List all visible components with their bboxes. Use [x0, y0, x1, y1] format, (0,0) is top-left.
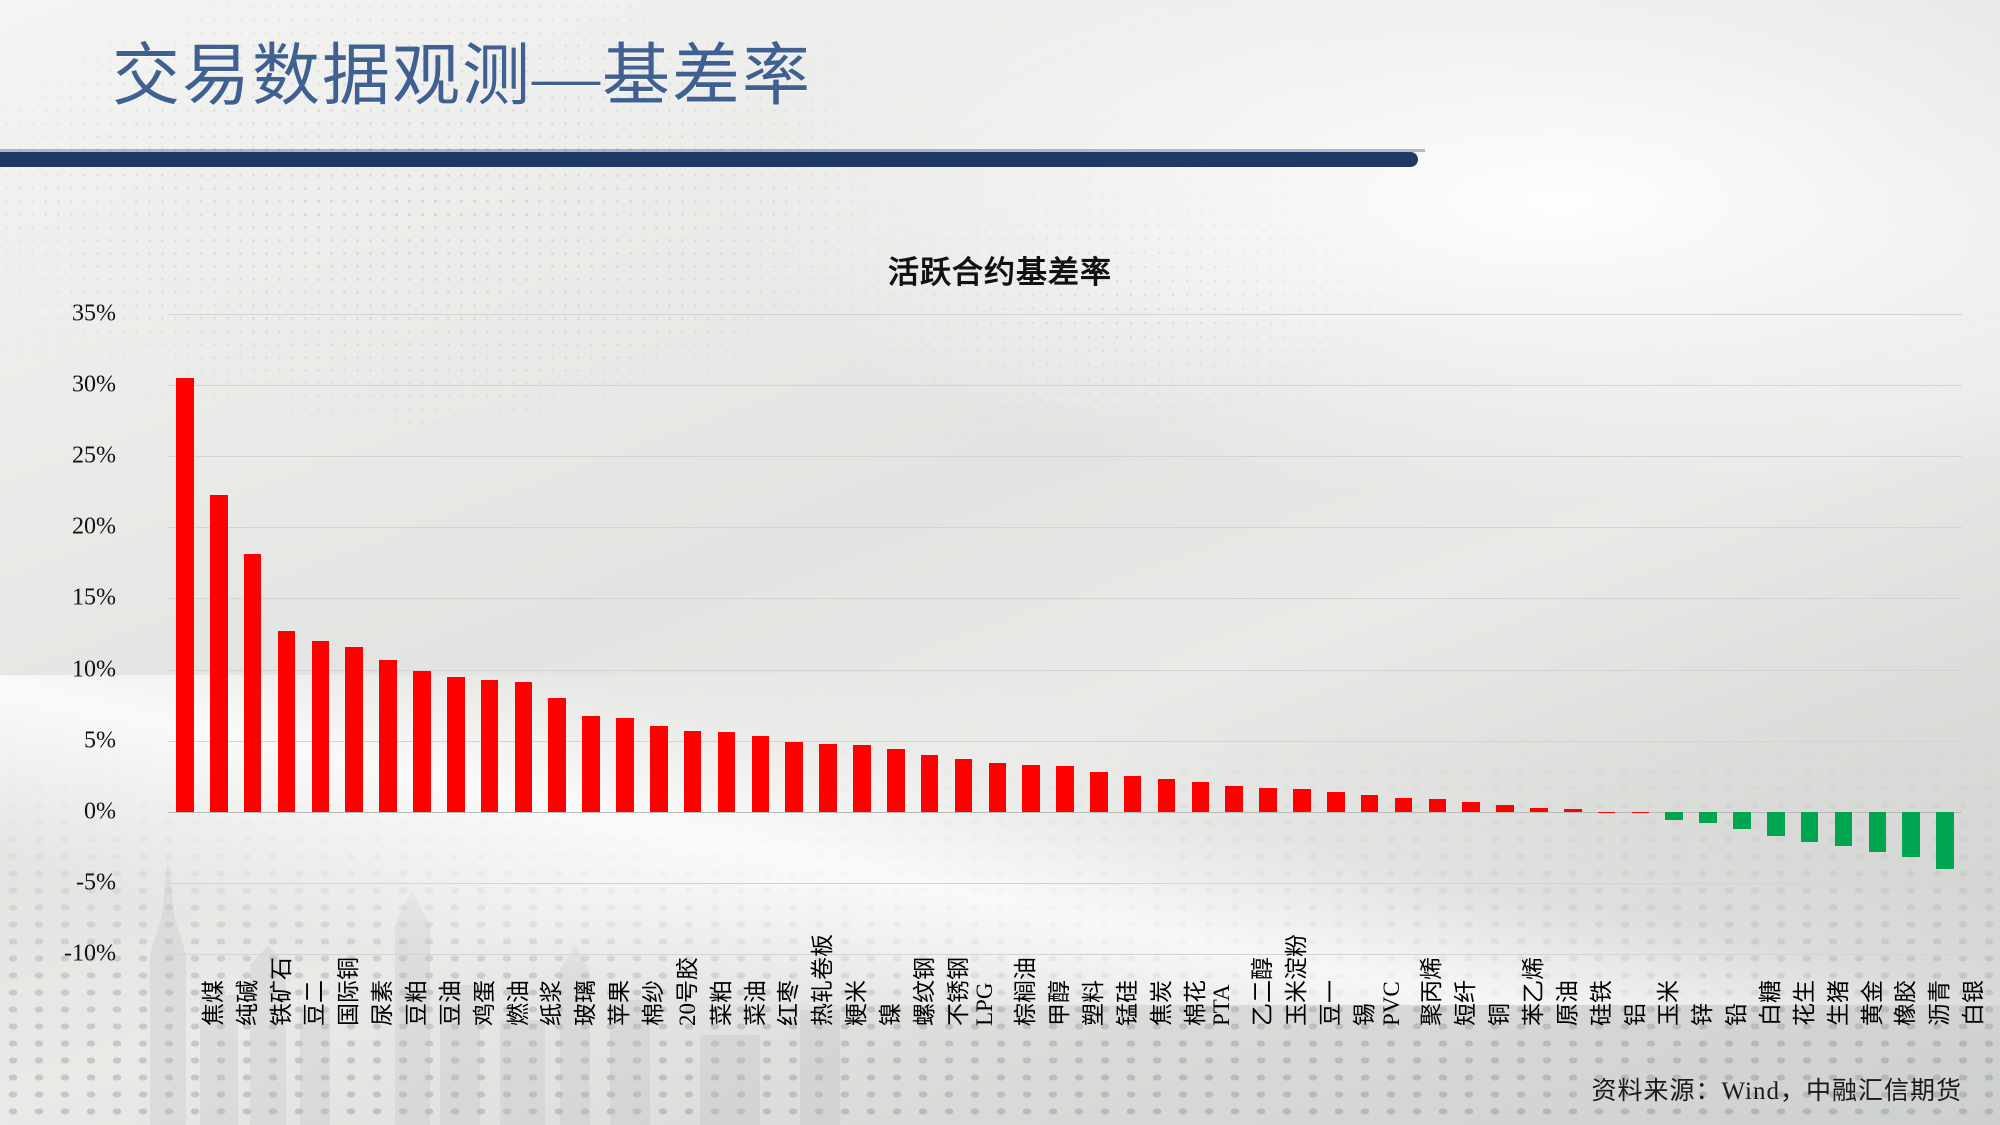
chart-bar — [1632, 812, 1650, 813]
x-axis-tick-label: 黄金 — [1853, 980, 1887, 1026]
x-axis-tick-label: 锌 — [1683, 1003, 1717, 1026]
chart-title: 活跃合约基差率 — [0, 247, 2000, 292]
chart-bar — [413, 671, 431, 812]
x-axis-tick-label: 棉纱 — [634, 980, 668, 1026]
x-axis-tick-label: 豆二 — [295, 980, 329, 1026]
chart-bar — [1767, 812, 1785, 836]
x-axis-tick-label: 20号胶 — [668, 957, 702, 1026]
x-axis-tick-label: 铁矿石 — [262, 957, 296, 1026]
chart-bar — [345, 647, 363, 812]
x-axis-tick-label: 铅 — [1717, 1003, 1751, 1026]
x-axis-tick-label: 玻璃 — [566, 980, 600, 1026]
chart-bar — [1733, 812, 1751, 829]
x-axis-tick-label: 锰硅 — [1108, 980, 1142, 1026]
x-axis-tick-label: 玉米淀粉 — [1277, 934, 1311, 1026]
gridline — [168, 883, 1962, 884]
x-axis-tick-label: 苹果 — [600, 980, 634, 1026]
chart-bar — [955, 759, 973, 812]
chart-bar — [548, 698, 566, 812]
chart-bar — [1496, 805, 1514, 812]
y-axis-tick-label: -5% — [0, 869, 116, 896]
chart-bar — [1835, 812, 1853, 846]
x-axis-tick-label: 豆油 — [431, 980, 465, 1026]
chart-bar — [278, 631, 296, 812]
x-axis-tick-label: 纸浆 — [532, 980, 566, 1026]
chart-bar — [752, 736, 770, 811]
chart-bar — [1293, 789, 1311, 812]
x-axis-tick-label: 菜油 — [736, 980, 770, 1026]
x-axis-tick-label: 镍 — [871, 1003, 905, 1026]
x-axis-tick-label: 原油 — [1548, 980, 1582, 1026]
x-axis-tick-label: 短纤 — [1446, 980, 1480, 1026]
chart-bar — [1429, 799, 1447, 812]
x-axis-tick-label: LPG — [972, 983, 998, 1026]
x-axis-tick-label: 硅铁 — [1582, 980, 1616, 1026]
x-axis-tick-label: 生猪 — [1819, 980, 1853, 1026]
chart-bar — [1124, 776, 1142, 812]
chart-bar — [312, 641, 330, 812]
x-axis-tick-label: 豆粕 — [397, 980, 431, 1026]
chart-bar — [1564, 809, 1582, 812]
x-axis-tick-label: 铝 — [1616, 1003, 1650, 1026]
gridline — [168, 954, 1962, 955]
x-axis-tick-label: 豆一 — [1311, 980, 1345, 1026]
x-axis-tick-label: PVC — [1379, 981, 1405, 1026]
x-axis-tick-label: 国际铜 — [329, 957, 363, 1026]
y-axis-tick-label: 15% — [0, 585, 116, 612]
chart-bar — [1699, 812, 1717, 823]
x-axis-tick-label: 橡胶 — [1886, 980, 1920, 1026]
x-axis-tick-label: 鸡蛋 — [465, 980, 499, 1026]
y-axis-tick-label: 0% — [0, 798, 116, 825]
chart-bar — [1225, 786, 1243, 812]
chart-bar — [1259, 788, 1277, 812]
x-axis-tick-label: 沥青 — [1920, 980, 1954, 1026]
chart-bar — [1158, 779, 1176, 812]
chart-bar — [447, 677, 465, 812]
x-axis-tick-label: 菜粕 — [702, 980, 736, 1026]
x-axis-tick-label: 燃油 — [499, 980, 533, 1026]
chart-bar — [176, 378, 194, 812]
gridline — [168, 598, 1962, 599]
chart-bar — [684, 731, 702, 812]
chart-bar — [650, 726, 668, 811]
axis-zero-line — [168, 812, 1962, 813]
x-axis-tick-label: 铜 — [1480, 1003, 1514, 1026]
halftone-texture — [0, 695, 2000, 1125]
y-axis-tick-label: 35% — [0, 301, 116, 328]
chart-gridlines: 35%30%25%20%15%10%5%0%-5%-10% — [168, 314, 1962, 954]
x-axis-tick-label: 粳米 — [837, 980, 871, 1026]
y-axis-tick-label: 30% — [0, 372, 116, 399]
chart-bar — [1530, 808, 1548, 812]
x-axis-tick-label: 纯碱 — [228, 980, 262, 1026]
y-axis-tick-label: 20% — [0, 514, 116, 541]
gridline — [168, 314, 1962, 315]
chart-bar — [1462, 802, 1480, 812]
x-axis-tick-label: PTA — [1209, 984, 1235, 1026]
x-axis-tick-label: 甲醇 — [1040, 980, 1074, 1026]
x-axis-tick-label: 白银 — [1954, 980, 1988, 1026]
chart-bar — [1395, 798, 1413, 812]
chart-bar — [210, 495, 228, 812]
chart-bar — [1022, 765, 1040, 812]
x-axis-tick-label: 锡 — [1345, 1003, 1379, 1026]
chart-bar — [1902, 812, 1920, 858]
chart-bar — [1361, 795, 1379, 812]
chart-bars: 焦煤纯碱铁矿石豆二国际铜尿素豆粕豆油鸡蛋燃油纸浆玻璃苹果棉纱20号胶菜粕菜油红枣… — [168, 314, 1962, 954]
light-sweep-overlay — [0, 675, 2000, 1005]
chart-bar — [853, 745, 871, 812]
chart-bar — [244, 554, 262, 811]
gridline — [168, 670, 1962, 671]
x-axis-tick-label: 焦炭 — [1142, 980, 1176, 1026]
chart-bar — [379, 660, 397, 812]
x-axis-tick-label: 螺纹钢 — [905, 957, 939, 1026]
chart-bar — [1327, 792, 1345, 812]
x-axis-tick-label: 棉花 — [1176, 980, 1210, 1026]
x-axis-tick-label: 苯乙烯 — [1514, 957, 1548, 1026]
x-axis-tick-label: 塑料 — [1074, 980, 1108, 1026]
chart-bar — [481, 680, 499, 812]
x-axis-tick-label: 红枣 — [769, 980, 803, 1026]
page-title: 交易数据观测—基差率 — [112, 42, 812, 110]
chart-bar — [819, 744, 837, 812]
x-axis-tick-label: 热轧卷板 — [803, 934, 837, 1026]
chart-bar — [582, 716, 600, 811]
x-axis-tick-label: 花生 — [1785, 980, 1819, 1026]
chart-bar — [1936, 812, 1954, 869]
world-map-dots-texture-secondary — [760, 120, 1660, 540]
chart-bar — [785, 742, 803, 812]
chart-bar — [921, 755, 939, 812]
x-axis-tick-label: 焦煤 — [194, 980, 228, 1026]
x-axis-tick-label: 尿素 — [363, 980, 397, 1026]
gridline — [168, 527, 1962, 528]
chart-bar — [1192, 782, 1210, 812]
chart-bar — [1801, 812, 1819, 842]
y-axis-tick-label: 5% — [0, 727, 116, 754]
y-axis-tick-label: -10% — [0, 941, 116, 968]
chart-bar — [887, 749, 905, 812]
slide-header: 交易数据观测—基差率 — [0, 0, 1425, 180]
chart-bar — [1665, 812, 1683, 821]
chart-bar — [1598, 812, 1616, 813]
chart-bar — [1869, 812, 1887, 852]
y-axis-tick-label: 25% — [0, 443, 116, 470]
x-axis-tick-label: 不锈钢 — [939, 957, 973, 1026]
gridline — [168, 456, 1962, 457]
gridline — [168, 741, 1962, 742]
title-underline-bar — [0, 152, 1418, 167]
chart-bar — [1056, 766, 1074, 812]
x-axis-tick-label: 玉米 — [1649, 980, 1683, 1026]
source-note: 资料来源：Wind，中融汇信期货 — [1591, 1071, 1962, 1107]
gridline — [168, 385, 1962, 386]
x-axis-tick-label: 乙二醇 — [1243, 957, 1277, 1026]
slide-background: 交易数据观测—基差率 活跃合约基差率 35%30%25%20%15%10%5%0… — [0, 0, 2000, 1125]
y-axis-tick-label: 10% — [0, 656, 116, 683]
chart-bar — [718, 732, 736, 812]
x-axis-tick-label: 白糖 — [1751, 980, 1785, 1026]
chart-bar — [1090, 772, 1108, 812]
chart-bar — [989, 763, 1007, 811]
x-axis-tick-label: 棕榈油 — [1006, 957, 1040, 1026]
chart-bar — [515, 682, 533, 811]
x-axis-tick-label: 聚丙烯 — [1412, 957, 1446, 1026]
chart-bar — [616, 718, 634, 812]
